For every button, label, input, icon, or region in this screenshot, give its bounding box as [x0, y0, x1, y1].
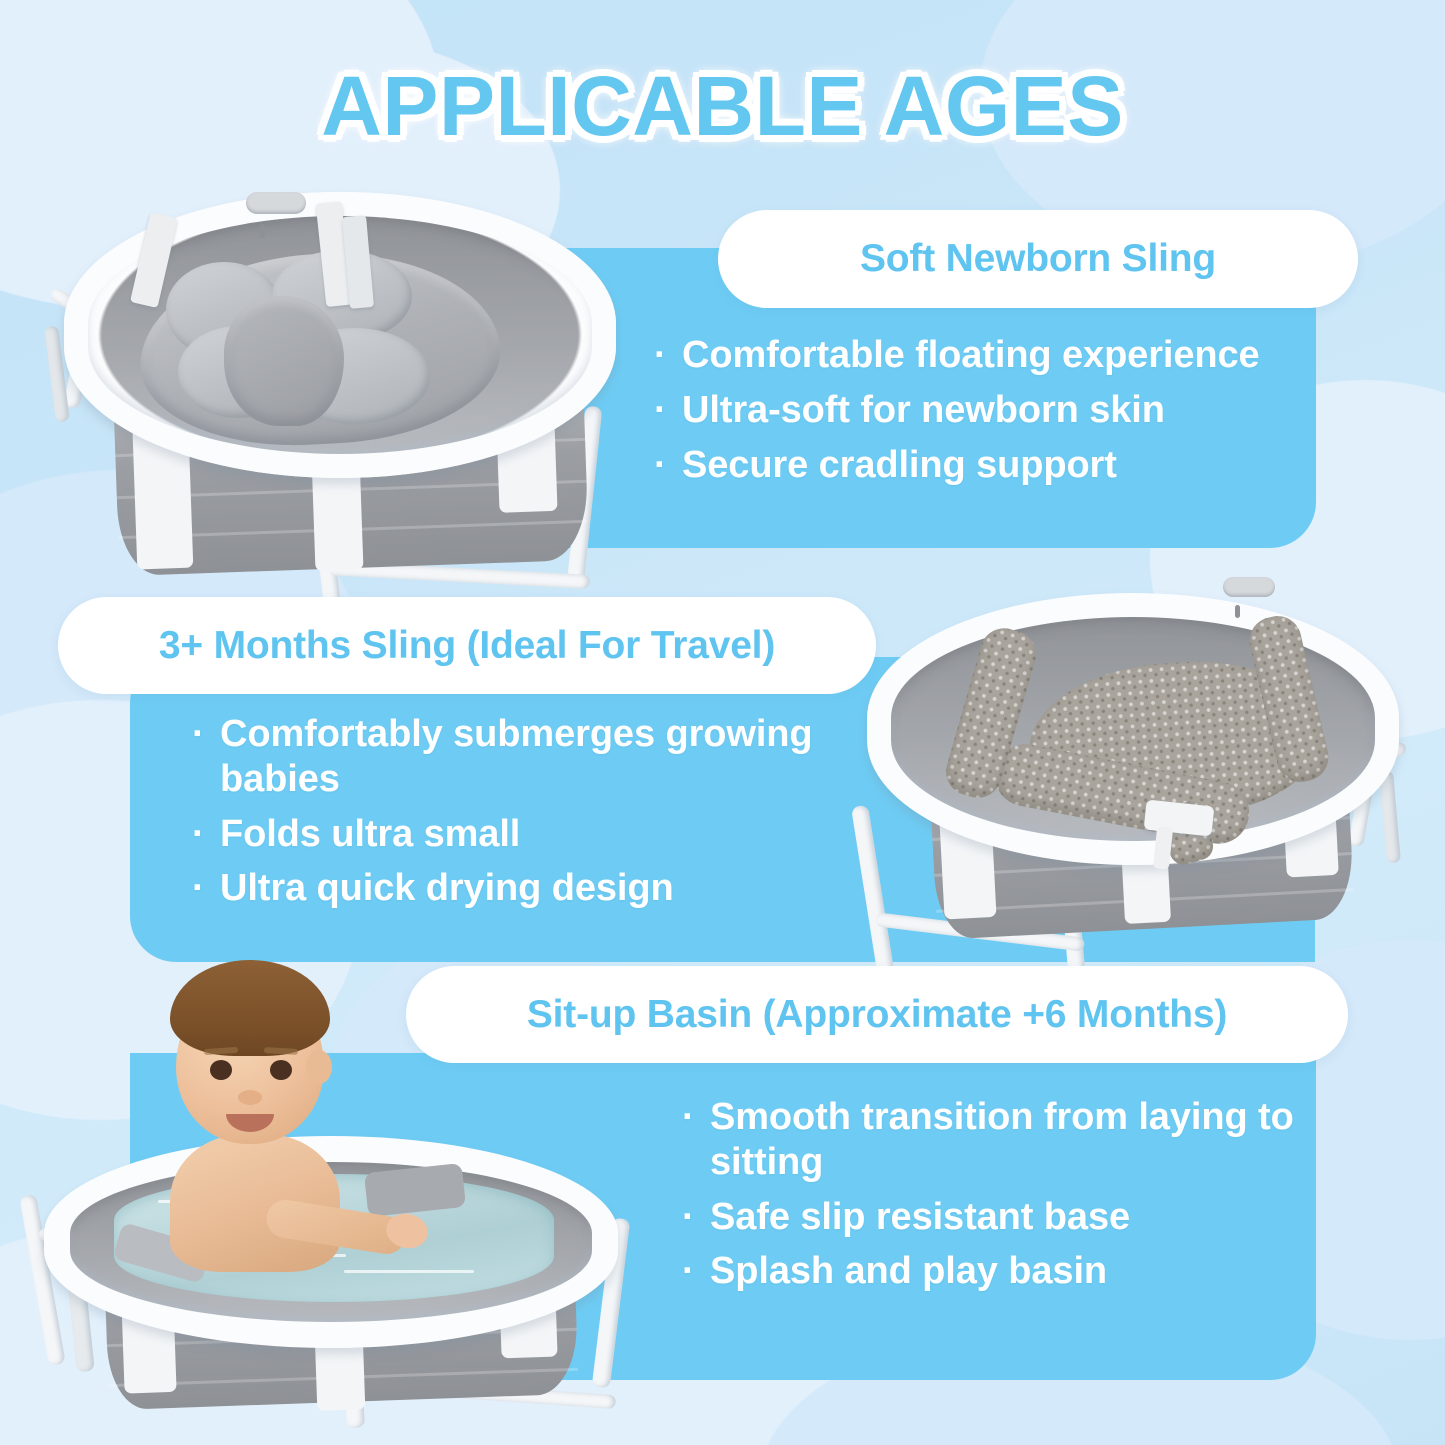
section-3-bullets: ·Smooth transition from laying to sittin…: [680, 1095, 1300, 1304]
bullet-text: Comfortably submerges growing babies: [220, 713, 813, 800]
bullet-dot-icon: ·: [192, 812, 205, 857]
bullet-dot-icon: ·: [654, 333, 667, 378]
section-3-heading-pill: Sit-up Basin (Approximate +6 Months): [406, 966, 1348, 1063]
section-1-bullets: ·Comfortable floating experience ·Ultra-…: [652, 333, 1292, 497]
section-2-heading: 3+ Months Sling (Ideal For Travel): [159, 624, 775, 668]
section-3-heading: Sit-up Basin (Approximate +6 Months): [527, 993, 1227, 1037]
bullet-item: ·Splash and play basin: [680, 1249, 1300, 1294]
bullet-item: ·Smooth transition from laying to sittin…: [680, 1095, 1300, 1185]
bullet-text: Ultra quick drying design: [220, 867, 674, 909]
bullet-item: ·Folds ultra small: [190, 812, 830, 857]
bullet-text: Secure cradling support: [682, 444, 1117, 486]
bullet-item: ·Comfortable floating experience: [652, 333, 1292, 378]
page-title: APPLICABLE AGES: [321, 62, 1123, 150]
bullet-text: Comfortable floating experience: [682, 334, 1260, 376]
product-photo-mesh-sling: [845, 565, 1445, 970]
bullet-item: ·Safe slip resistant base: [680, 1195, 1300, 1240]
bullet-text: Smooth transition from laying to sitting: [710, 1096, 1294, 1183]
bullet-dot-icon: ·: [192, 712, 205, 757]
section-1-heading: Soft Newborn Sling: [860, 237, 1216, 281]
bullet-dot-icon: ·: [682, 1095, 695, 1140]
product-photo-newborn-sling: [28, 176, 648, 596]
bullet-item: ·Ultra-soft for newborn skin: [652, 388, 1292, 433]
infographic-page: APPLICABLE AGES: [0, 0, 1445, 1445]
bullet-item: ·Ultra quick drying design: [190, 866, 830, 911]
bullet-dot-icon: ·: [192, 866, 205, 911]
bullet-item: ·Secure cradling support: [652, 443, 1292, 488]
bullet-text: Safe slip resistant base: [710, 1196, 1130, 1238]
section-1-heading-pill: Soft Newborn Sling: [718, 210, 1358, 308]
section-2-heading-pill: 3+ Months Sling (Ideal For Travel): [58, 597, 876, 694]
bullet-text: Folds ultra small: [220, 813, 520, 855]
section-2-bullets: ·Comfortably submerges growing babies ·F…: [190, 712, 830, 921]
bullet-text: Ultra-soft for newborn skin: [682, 389, 1165, 431]
bullet-dot-icon: ·: [654, 443, 667, 488]
page-title-wrap: APPLICABLE AGES: [0, 62, 1445, 150]
bullet-text: Splash and play basin: [710, 1250, 1107, 1292]
bullet-item: ·Comfortably submerges growing babies: [190, 712, 830, 802]
bullet-dot-icon: ·: [682, 1249, 695, 1294]
bullet-dot-icon: ·: [654, 388, 667, 433]
bullet-dot-icon: ·: [682, 1195, 695, 1240]
